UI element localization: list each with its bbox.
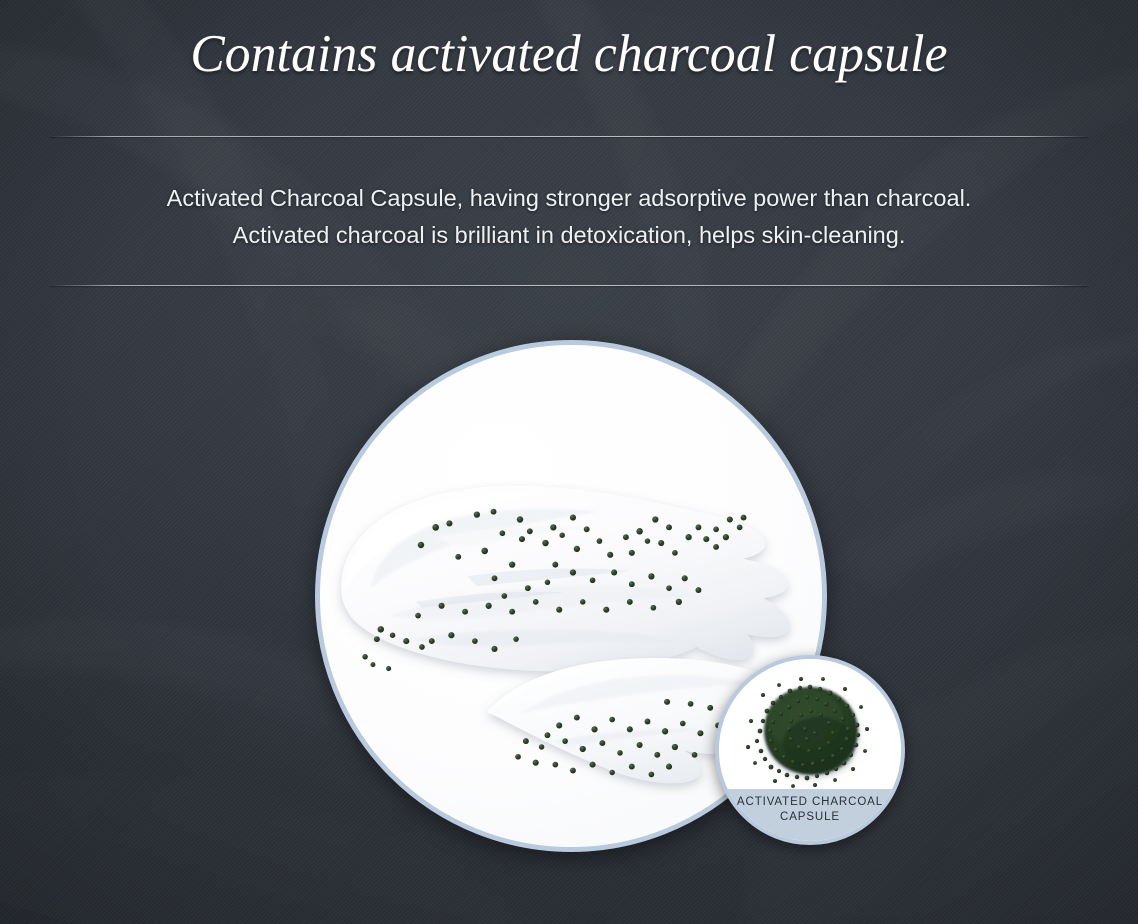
subtitle-line-2: Activated charcoal is brilliant in detox… <box>0 217 1138 254</box>
page-title: Contains activated charcoal capsule <box>17 24 1121 85</box>
divider-bottom <box>50 285 1088 286</box>
subtitle-block: Activated Charcoal Capsule, having stron… <box>0 180 1138 254</box>
divider-top <box>50 136 1088 137</box>
charcoal-capsule-inset-circle: ACTIVATED CHARCOAL CAPSULE <box>715 655 905 845</box>
charcoal-bead-group-stray <box>362 654 391 671</box>
subtitle-line-1: Activated Charcoal Capsule, having stron… <box>0 180 1138 217</box>
inset-caption: ACTIVATED CHARCOAL CAPSULE <box>719 789 901 841</box>
inset-caption-line-2: CAPSULE <box>719 810 901 825</box>
product-feature-banner: Contains activated charcoal capsule Acti… <box>0 0 1138 924</box>
inset-caption-line-1: ACTIVATED CHARCOAL <box>719 795 901 810</box>
